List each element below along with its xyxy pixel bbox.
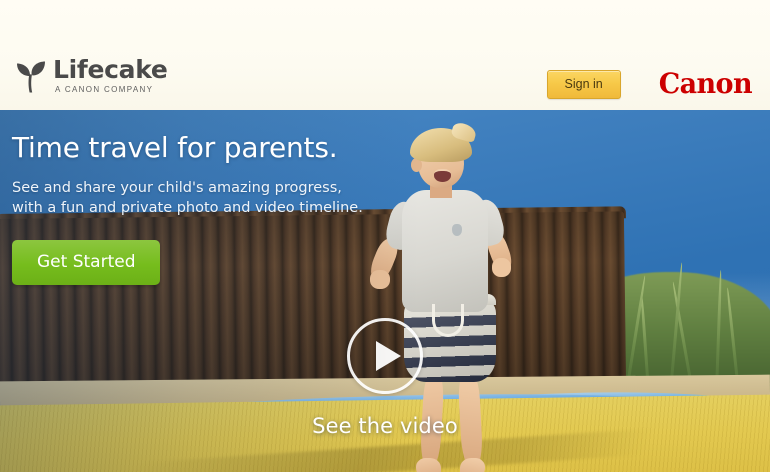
hero-subcopy-line1: See and share your child's amazing progr… — [12, 178, 412, 198]
hero-copy-block: Time travel for parents. See and share y… — [12, 132, 412, 285]
hero-banner: Time travel for parents. See and share y… — [0, 110, 770, 472]
site-header: Lifecake A CANON COMPANY Sign in Canon — [0, 0, 770, 110]
hero-subcopy-line2: with a fun and private photo and video t… — [12, 198, 412, 218]
leaf-sprout-icon — [16, 60, 46, 94]
landing-page: Lifecake A CANON COMPANY Sign in Canon — [0, 0, 770, 472]
get-started-button[interactable]: Get Started — [12, 240, 160, 285]
see-the-video-cta[interactable]: See the video — [0, 318, 770, 438]
logo-wordmark: Lifecake — [53, 57, 168, 83]
hero-subcopy: See and share your child's amazing progr… — [12, 178, 412, 218]
page-title: Time travel for parents. — [12, 132, 412, 164]
header-actions: Sign in Canon — [547, 70, 753, 99]
play-button-icon[interactable] — [347, 318, 423, 394]
sign-in-button[interactable]: Sign in — [547, 70, 621, 99]
video-cta-label: See the video — [312, 414, 458, 438]
logo-tagline: A CANON COMPANY — [55, 85, 168, 94]
play-triangle-icon — [376, 341, 401, 371]
lifecake-logo[interactable]: Lifecake A CANON COMPANY — [16, 57, 168, 94]
canon-logo: Canon — [659, 71, 752, 99]
